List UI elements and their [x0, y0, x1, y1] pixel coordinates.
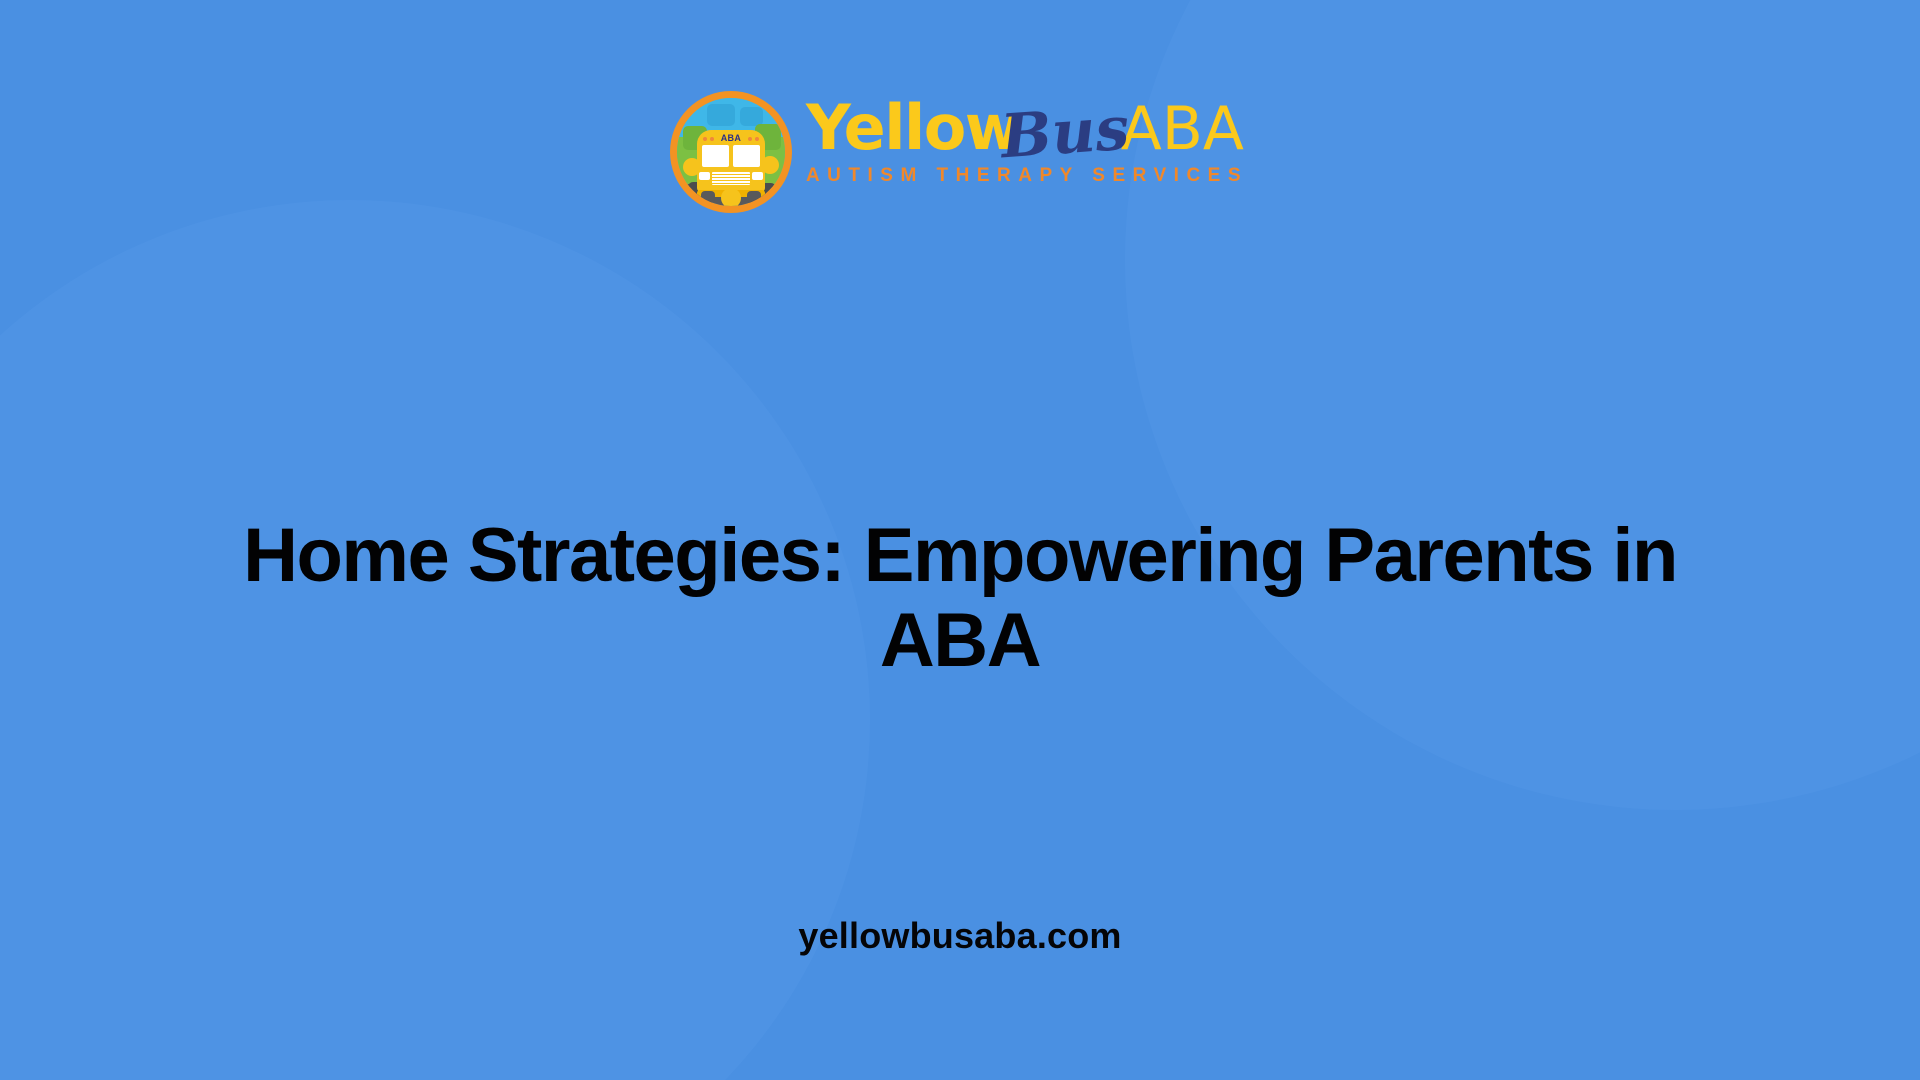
bus-headlight-left	[699, 172, 710, 180]
page-title: Home Strategies: Empowering Parents in A…	[190, 513, 1730, 683]
bus-light-dot-icon	[710, 137, 714, 141]
bus-grille	[712, 172, 750, 185]
puzzle-piece-icon	[707, 104, 735, 126]
bus-light-dot-icon	[748, 137, 752, 141]
logo-lockup: ABA	[670, 91, 1250, 213]
bus-light-dot-icon	[703, 137, 707, 141]
bus-wheel-right	[747, 191, 761, 203]
wordmark-aba: ABA	[1121, 99, 1244, 159]
brand-logo[interactable]: ABA	[0, 92, 1920, 212]
bus-wheel-left	[701, 191, 715, 203]
bus-icon: ABA	[697, 130, 765, 192]
school-bus-puzzle-emblem-icon: ABA	[670, 91, 792, 213]
emblem-face: ABA	[677, 98, 785, 206]
logo-wordmark: Yellow Bus ABA AUTISM THERAPY SERVICES	[806, 91, 1250, 187]
wordmark-bus: Bus	[999, 99, 1131, 168]
wordmark-yellow: Yellow	[806, 97, 1021, 159]
website-url[interactable]: yellowbusaba.com	[0, 915, 1920, 957]
bus-light-dot-icon	[755, 137, 759, 141]
bus-headlight-right	[752, 172, 763, 180]
bus-windshield-right	[733, 145, 760, 167]
wordmark-row: Yellow Bus ABA	[806, 97, 1250, 159]
puzzle-knob-icon	[721, 188, 741, 206]
bus-windshield-left	[702, 145, 729, 167]
slide-canvas: ABA	[0, 0, 1920, 1080]
